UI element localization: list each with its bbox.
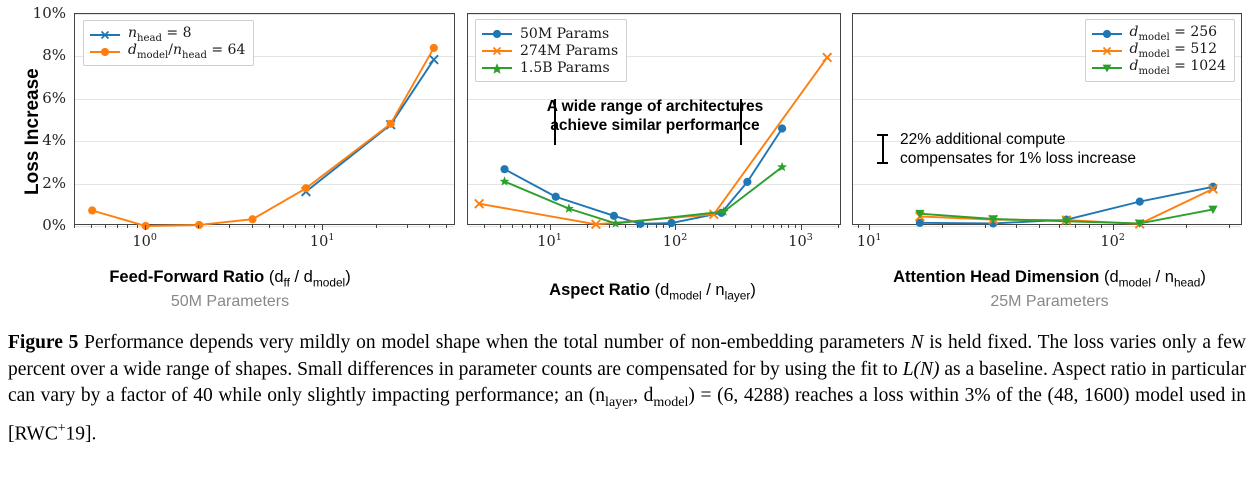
panel-subtitle-3: 25M Parameters — [845, 293, 1254, 311]
x-tick-mark — [1089, 225, 1090, 228]
x-tick-mark — [512, 225, 513, 228]
data-point-marker — [823, 53, 832, 62]
series-line — [92, 48, 434, 226]
caption-p4: , d — [633, 385, 653, 406]
legend-item[interactable]: 50M Params — [482, 25, 618, 42]
x-tick-mark — [1101, 225, 1102, 228]
annotation-line-1: 22% additional compute — [900, 130, 1136, 149]
legend-swatch-line-marker — [1092, 28, 1122, 40]
x-tick-mark — [446, 225, 447, 228]
figure-label: Figure 5 — [8, 332, 78, 353]
x-tick-mark — [735, 225, 736, 228]
gridline — [468, 226, 840, 227]
legend-label-2-0: 50M Params — [520, 26, 609, 42]
gridline — [853, 226, 1241, 227]
x-tick-mark — [137, 225, 138, 228]
x-tick-mark — [942, 225, 943, 228]
x-tick-mark — [429, 225, 430, 228]
caption-formula-LN: L(N) — [903, 359, 940, 380]
legend-swatch-line-marker — [1092, 62, 1122, 74]
data-point-marker — [142, 222, 150, 230]
legend-item[interactable]: dmodel = 512 — [1092, 42, 1227, 59]
legend-item[interactable]: dmodel = 1024 — [1092, 59, 1227, 76]
caption-p6: 19]. — [66, 424, 97, 445]
x-tick-mark — [1113, 225, 1114, 230]
annotation-text-3: 22% additional compute compensates for 1… — [900, 130, 1136, 168]
panel-subtitle-1: 50M Parameters — [0, 293, 460, 311]
x-axis-title-bold-1: Feed-Forward Ratio — [109, 268, 264, 286]
plot-area-1: nhead = 8 dmodel/nhead = 64 — [74, 13, 455, 225]
y-tick-label: 2% — [0, 174, 66, 192]
circle-marker-icon — [482, 28, 512, 40]
x-tick-mark — [763, 225, 764, 228]
x-tick-mark — [985, 225, 986, 228]
data-point-marker — [564, 203, 574, 212]
x-tick-mark — [869, 225, 870, 230]
x-tick-mark — [858, 225, 859, 228]
circle-marker-icon — [90, 46, 120, 58]
x-tick-mark — [637, 225, 638, 228]
x-tick-mark — [781, 225, 782, 228]
x-tick-mark — [522, 225, 523, 228]
x-tick-mark — [647, 225, 648, 228]
legend-item[interactable]: nhead = 8 — [90, 26, 245, 43]
annotation-line-2: achieve similar performance — [468, 116, 842, 135]
legend-label-1-1: dmodel/nhead = 64 — [128, 42, 245, 61]
error-bar-cap-bottom — [877, 162, 888, 164]
figure-plots: Loss Increase nhead = 8 — [0, 0, 1254, 326]
legend-2[interactable]: 50M Params 274M Params — [475, 19, 627, 82]
x-tick-mark — [229, 225, 230, 228]
x-tick-mark — [656, 225, 657, 228]
x-tick-mark — [675, 225, 676, 230]
x-tick-mark — [295, 225, 296, 228]
x-tick-mark — [751, 225, 752, 228]
data-point-marker — [500, 165, 508, 173]
x-tick-mark — [544, 225, 545, 228]
data-point-marker — [387, 120, 395, 128]
error-bar-stem — [882, 134, 884, 164]
x-tick-label: 100 — [132, 232, 157, 250]
data-point-marker — [195, 221, 203, 229]
triangle-down-marker-icon — [1092, 62, 1122, 74]
data-point-marker — [248, 215, 256, 223]
x-tick-mark — [1016, 225, 1017, 228]
x-tick-mark — [713, 225, 714, 228]
x-tick-mark — [795, 225, 796, 228]
x-tick-mark — [500, 225, 501, 228]
series-line — [306, 60, 434, 192]
x-tick-mark — [1039, 225, 1040, 228]
x-tick-mark — [105, 225, 106, 228]
x-tick-mark — [322, 225, 323, 230]
x-tick-mark — [127, 225, 128, 228]
x-tick-mark — [269, 225, 270, 228]
x-tick-label: 102 — [663, 232, 688, 250]
plot-area-2: 50M Params 274M Params — [467, 13, 841, 225]
error-bar-cap-top — [877, 134, 888, 136]
legend-item[interactable]: 1.5B Params — [482, 59, 618, 76]
legend-item[interactable]: dmodel = 256 — [1092, 25, 1227, 42]
x-tick-mark — [117, 225, 118, 228]
legend-item[interactable]: 274M Params — [482, 42, 618, 59]
y-tick-label: 0% — [0, 216, 66, 234]
legend-label-3-0: dmodel = 256 — [1130, 24, 1218, 43]
x-tick-mark — [283, 225, 284, 228]
legend-swatch-line-marker — [1092, 45, 1122, 57]
legend-1[interactable]: nhead = 8 dmodel/nhead = 64 — [83, 20, 254, 66]
x-tick-mark — [145, 225, 146, 230]
x-tick-label: 101 — [857, 232, 882, 250]
caption-sub-model: model — [653, 394, 688, 410]
x-tick-mark — [376, 225, 377, 228]
circle-marker-icon — [1092, 28, 1122, 40]
x-tick-mark — [1059, 225, 1060, 228]
y-tick-label: 4% — [0, 131, 66, 149]
x-marker-icon — [482, 45, 512, 57]
annotation-line-2: compensates for 1% loss increase — [900, 149, 1136, 168]
x-tick-mark — [587, 225, 588, 228]
x-tick-mark — [305, 225, 306, 228]
x-tick-mark — [663, 225, 664, 228]
data-point-marker — [500, 176, 510, 185]
x-tick-label: 101 — [537, 232, 562, 250]
x-tick-mark — [484, 225, 485, 228]
x-tick-mark — [609, 225, 610, 228]
caption-sup-plus: + — [58, 420, 66, 435]
legend-label-2-1: 274M Params — [520, 43, 618, 59]
x-axis-title-3: Attention Head Dimension (dmodel / nhead… — [845, 268, 1254, 289]
legend-swatch-line-marker — [482, 45, 512, 57]
annotation-text-2: A wide range of architectures achieve si… — [468, 97, 842, 135]
data-point-marker — [1136, 198, 1144, 206]
data-point-marker — [302, 184, 310, 192]
annotation-line-1: A wide range of architectures — [468, 97, 842, 116]
caption-var-N: N — [910, 332, 923, 353]
x-axis-title-1: Feed-Forward Ratio (dff / dmodel) — [0, 268, 460, 289]
legend-label-3-2: dmodel = 1024 — [1130, 58, 1227, 77]
panel-feed-forward-ratio: nhead = 8 dmodel/nhead = 64 0%2%4%6%8%10… — [0, 0, 460, 326]
legend-swatch-line-marker — [90, 29, 120, 41]
plot-area-3: 22% additional compute compensates for 1… — [852, 13, 1242, 225]
legend-swatch-line-marker — [482, 62, 512, 74]
caption-p1: Performance depends very mildly on model… — [78, 332, 910, 353]
x-marker-icon — [1092, 45, 1122, 57]
x-tick-label: 103 — [788, 232, 813, 250]
legend-label-3-1: dmodel = 512 — [1130, 41, 1218, 60]
figure-caption: Figure 5 Performance depends very mildly… — [8, 330, 1246, 448]
x-tick-mark — [625, 225, 626, 228]
x-tick-mark — [314, 225, 315, 228]
x-tick-mark — [669, 225, 670, 228]
data-point-marker — [743, 178, 751, 186]
panel-aspect-ratio: 50M Params 274M Params — [460, 0, 845, 326]
x-tick-label: 102 — [1100, 232, 1125, 250]
panel-attention-head-dimension: 22% additional compute compensates for 1… — [845, 0, 1254, 326]
data-point-marker — [88, 206, 96, 214]
x-tick-mark — [801, 225, 802, 230]
x-tick-mark — [788, 225, 789, 228]
y-tick-label: 8% — [0, 46, 66, 64]
star-marker-icon — [482, 62, 512, 74]
data-point-marker — [552, 193, 560, 201]
legend-3[interactable]: dmodel = 256 dmodel = 512 — [1085, 19, 1236, 82]
x-tick-mark — [252, 225, 253, 228]
y-tick-label: 10% — [0, 4, 66, 22]
x-tick-mark — [74, 225, 75, 228]
x-tick-mark — [773, 225, 774, 228]
legend-swatch-line-marker — [90, 46, 120, 58]
y-tick-label: 6% — [0, 89, 66, 107]
data-point-marker — [430, 55, 439, 64]
caption-sub-layer: layer — [605, 394, 633, 410]
x-tick-mark — [1075, 225, 1076, 228]
x-tick-mark — [1186, 225, 1187, 228]
x-tick-label: 101 — [310, 232, 335, 250]
x-axis-title-bold-2: Aspect Ratio — [549, 281, 650, 299]
x-tick-mark — [838, 225, 839, 228]
figure-root: Loss Increase nhead = 8 — [0, 0, 1254, 502]
legend-swatch-line-marker — [482, 28, 512, 40]
x-axis-title-bold-3: Attention Head Dimension — [893, 268, 1099, 286]
gridline — [75, 226, 454, 227]
x-tick-mark — [550, 225, 551, 230]
legend-label-2-2: 1.5B Params — [520, 60, 610, 76]
x-tick-mark — [1229, 225, 1230, 228]
x-tick-mark — [91, 225, 92, 228]
x-tick-mark — [198, 225, 199, 228]
x-marker-icon — [90, 29, 120, 41]
x-tick-mark — [407, 225, 408, 228]
legend-label-1-0: nhead = 8 — [128, 25, 192, 44]
x-tick-mark — [537, 225, 538, 228]
x-axis-title-2: Aspect Ratio (dmodel / nlayer) — [460, 281, 845, 302]
x-tick-mark — [530, 225, 531, 228]
legend-item[interactable]: dmodel/nhead = 64 — [90, 43, 245, 60]
data-point-marker — [610, 212, 618, 220]
data-point-marker — [430, 44, 438, 52]
